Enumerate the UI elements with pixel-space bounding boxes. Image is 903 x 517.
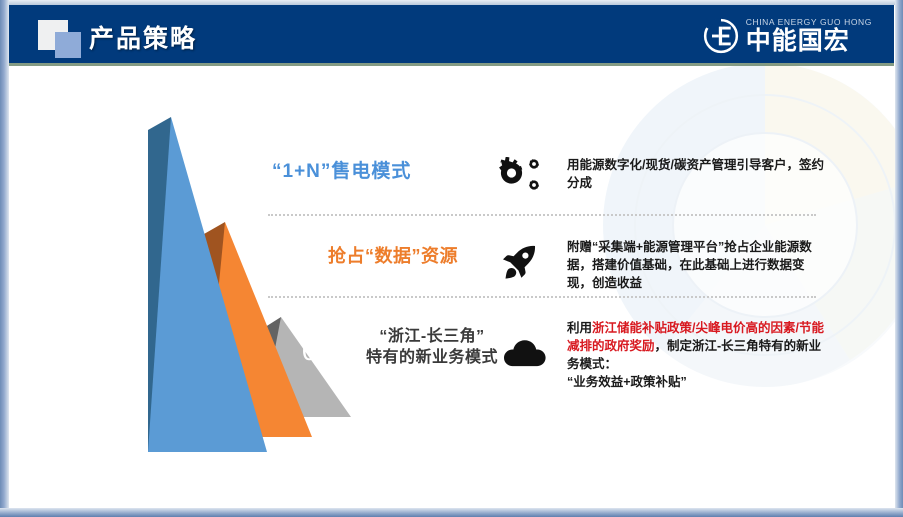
pyramid-level-01-number: 01 [210,167,247,204]
row-3-title-line2: 特有的新业务模式 [366,348,498,369]
company-logo: CHINA ENERGY GUO HONG 中能国宏 [703,17,872,55]
row-2-description: 附赠“采集端+能源管理平台”抢占企业能源数据，搭建价值基础，在此基础上进行数据变… [567,238,829,292]
frame-bottom-edge [0,508,903,517]
header-square-front-icon [55,32,81,58]
frame-left-edge [0,0,9,517]
slide-canvas: 产品策略 CHINA ENERGY GUO HONG 中能国宏 [0,0,903,517]
row-3-desc-part3: “业务效益+政策补贴” [567,375,687,389]
row-2-title: 抢占“数据”资源 [328,245,458,268]
cloud-icon [502,338,546,368]
company-logo-chinese: 中能国宏 [746,29,872,54]
row-3-desc-part1: 利用 [567,321,592,335]
header-bar: 产品策略 CHINA ENERGY GUO HONG 中能国宏 [9,5,894,63]
row-1-description: 用能源数字化/现货/碳资产管理引导客户，签约分成 [567,156,829,192]
company-logo-mark-icon [703,18,739,54]
pyramid-diagram: 01 02 03 [55,100,400,460]
page-title: 产品策略 [89,19,197,55]
frame-right-edge [895,0,903,517]
row-3-title: “浙江-长三角” 特有的新业务模式 [366,327,498,369]
pyramid-level-02-number: 02 [258,260,291,293]
row-3-description: 利用浙江储能补贴政策/尖峰电价高的因素/节能减排的政府奖励，制定浙江-长三角特有… [567,319,829,392]
rocket-icon [499,244,539,282]
header-underline [9,63,894,66]
company-logo-text: CHINA ENERGY GUO HONG 中能国宏 [746,18,872,54]
row-1-title: “1+N”售电模式 [272,160,411,185]
row-3-title-line1: “浙江-长三角” [379,328,484,345]
row-separator-2 [268,296,816,298]
row-separator-1 [268,214,816,216]
company-logo-english: CHINA ENERGY GUO HONG [746,18,872,27]
gears-icon [497,157,543,197]
pyramid-level-03-number: 03 [302,336,332,366]
